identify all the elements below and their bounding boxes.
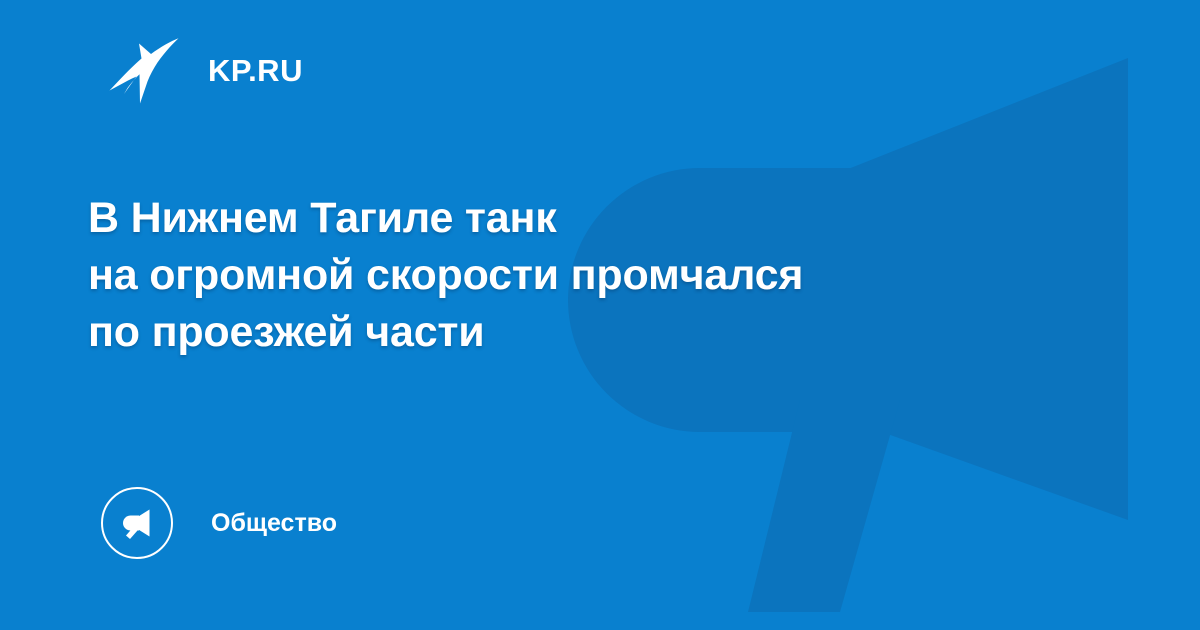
megaphone-icon (119, 505, 155, 541)
headline-line-2: на огромной скорости промчался (88, 247, 1088, 304)
page-title: В Нижнем Тагиле танк на огромной скорост… (88, 190, 1088, 361)
category-badge[interactable]: Общество (101, 487, 337, 559)
brand-name: KP.RU (208, 55, 303, 86)
news-share-card: KP.RU В Нижнем Тагиле танк на огромной с… (0, 0, 1200, 630)
swallow-bird-icon (108, 35, 182, 105)
brand-logo[interactable]: KP.RU (108, 38, 303, 102)
headline-line-1: В Нижнем Тагиле танк (88, 190, 1088, 247)
headline-line-3: по проезжей части (88, 304, 1088, 361)
category-icon-circle (101, 487, 173, 559)
category-label: Общество (211, 511, 337, 536)
